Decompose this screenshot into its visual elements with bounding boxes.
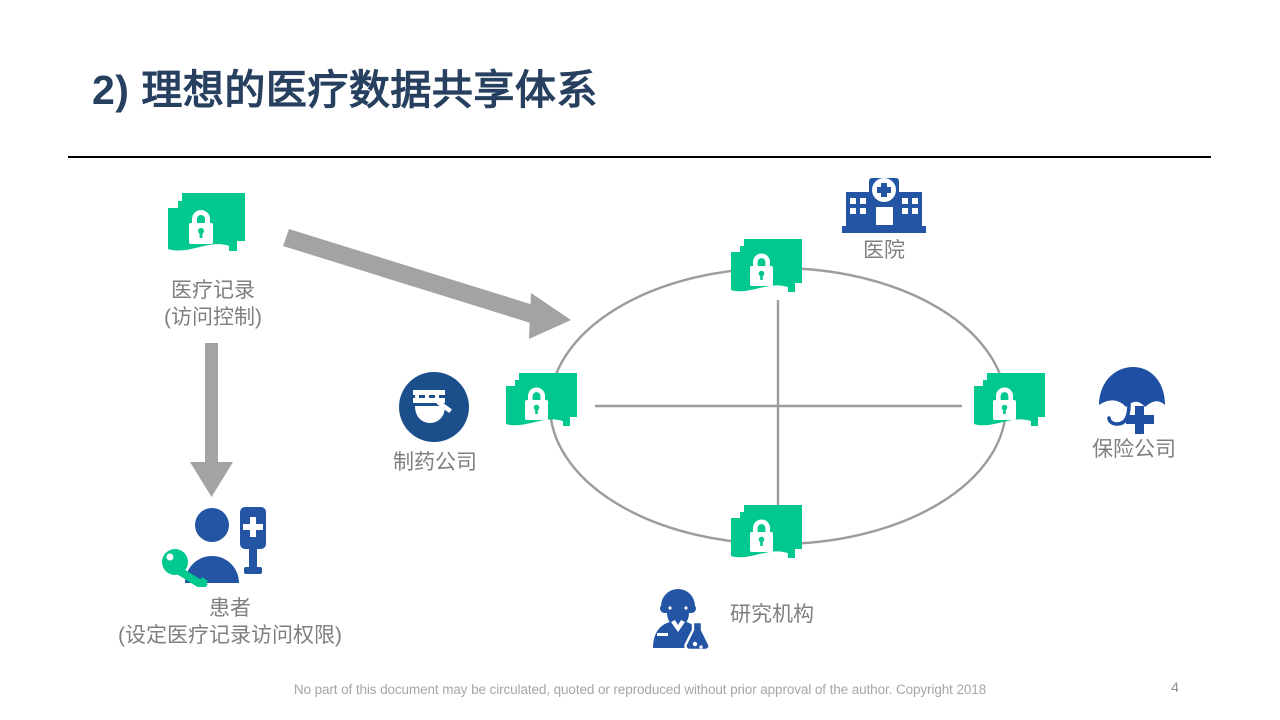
secure-records-icon-hospital xyxy=(722,236,814,308)
pharma-label: 制药公司 xyxy=(379,450,491,477)
medical-records-label-line2: (访问控制) xyxy=(108,305,318,332)
pharmacy-mortar-pestle-icon xyxy=(399,372,469,442)
secure-records-icon-pharma xyxy=(497,370,589,442)
slide-canvas: 2) 理想的医疗数据共享体系 xyxy=(0,0,1280,720)
arrow-down-icon xyxy=(190,343,233,497)
patient-label-line1: 患者 xyxy=(209,597,251,620)
arrow-diagonal-icon xyxy=(283,229,571,339)
research-label: 研究机构 xyxy=(712,602,832,629)
medical-records-label: 医疗记录 (访问控制) xyxy=(108,278,318,332)
footer-disclaimer: No part of this document may be circulat… xyxy=(0,682,1280,697)
page-number: 4 xyxy=(1160,679,1190,695)
hospital-icon xyxy=(838,176,930,236)
hospital-label: 医院 xyxy=(840,238,928,265)
secure-records-icon-research xyxy=(722,502,814,574)
page-title: 2) 理想的医疗数据共享体系 xyxy=(92,66,598,115)
insurance-label: 保险公司 xyxy=(1078,437,1190,464)
medical-records-label-line1: 医疗记录 xyxy=(171,279,255,302)
title-divider xyxy=(68,156,1211,158)
patient-label-line2: (设定医疗记录访问权限) xyxy=(60,623,400,650)
researcher-flask-icon xyxy=(649,586,715,650)
secure-records-icon-insurance xyxy=(965,370,1057,442)
umbrella-insurance-icon xyxy=(1093,364,1171,438)
secure-records-icon-source xyxy=(158,190,258,268)
patient-with-key-icon xyxy=(158,505,270,587)
patient-label: 患者 (设定医疗记录访问权限) xyxy=(60,596,400,650)
